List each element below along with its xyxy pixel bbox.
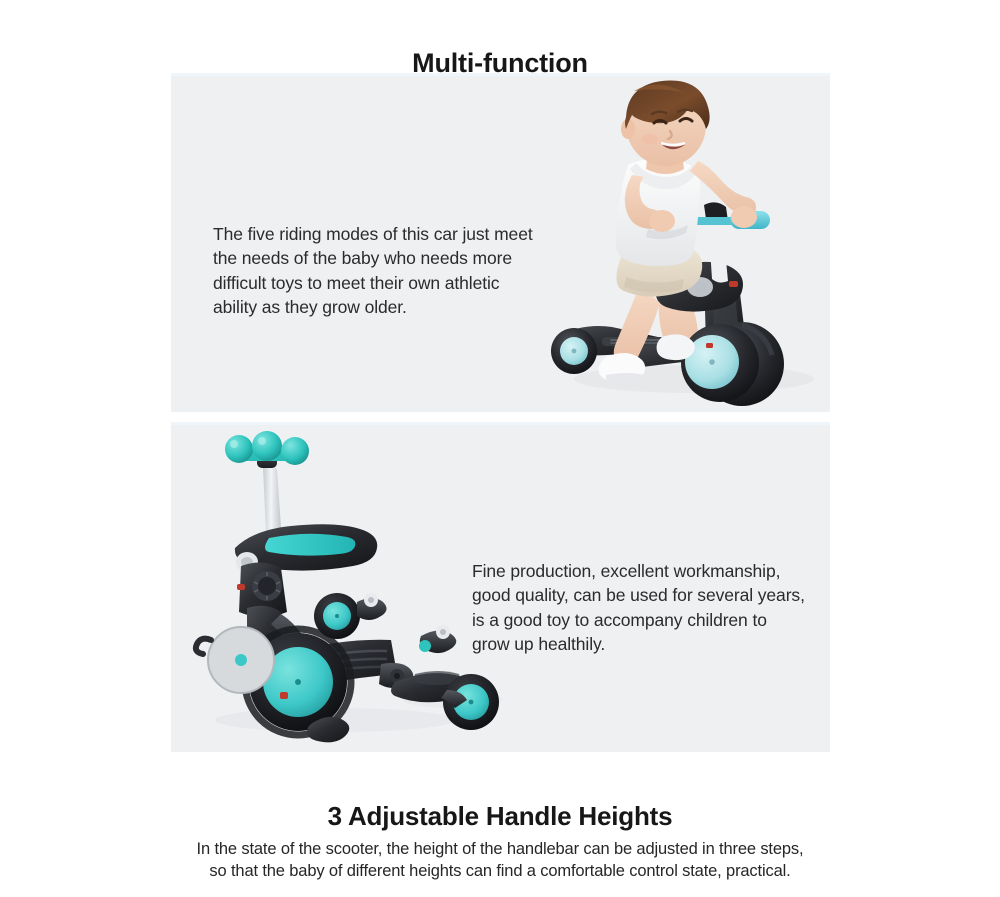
feature-copy-riding-modes: The five riding modes of this car just m… <box>213 222 573 320</box>
product-detail-page: Multi-function The five riding modes of … <box>0 0 1000 897</box>
feature-copy-fine-production: Fine production, excellent workmanship, … <box>472 559 830 657</box>
scooter-product-image <box>185 424 515 752</box>
footer-heading: 3 Adjustable Handle Heights <box>0 800 1000 833</box>
feature-panel-riding-modes: The five riding modes of this car just m… <box>171 73 830 412</box>
toddler-riding-scooter-image <box>544 79 830 412</box>
feature-panel-fine-production: Fine production, excellent workmanship, … <box>171 422 830 752</box>
footer-description: In the state of the scooter, the height … <box>0 838 1000 883</box>
